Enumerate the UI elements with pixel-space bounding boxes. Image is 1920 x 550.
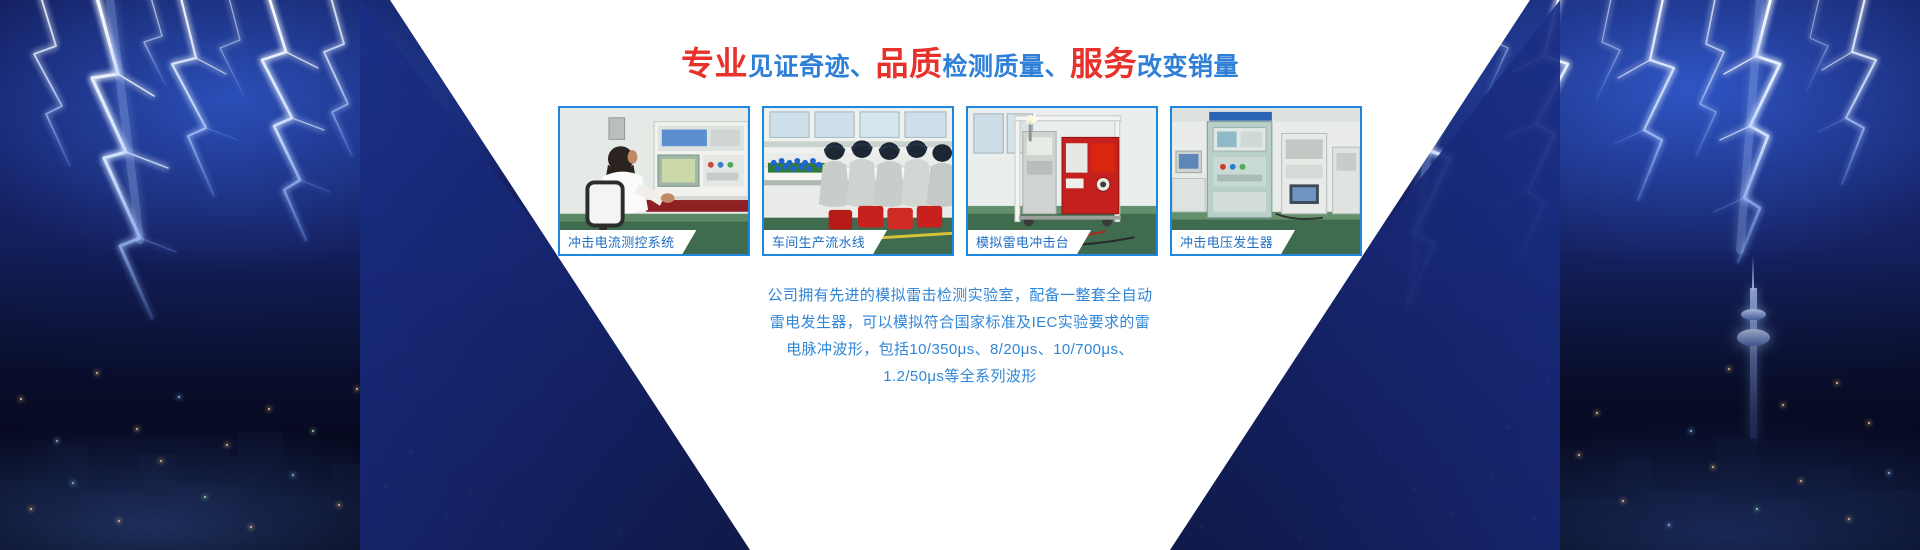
description-line-3: 电脉冲波形，包括10/350μs、8/20μs、10/700μs、 [767,336,1152,363]
promo-banner: 专业见证奇迹、品质检测质量、服务改变销量 [0,0,1920,550]
photo-2-caption: 车间生产流水线 [764,230,887,254]
headline-segment-3: 品质 [875,45,942,82]
headline-segment-5: 服务 [1070,45,1137,82]
banner-headline: 专业见证奇迹、品质检测质量、服务改变销量 [681,47,1239,80]
banner-content: 专业见证奇迹、品质检测质量、服务改变销量 [0,0,1920,550]
photo-4-caption: 冲击电压发生器 [1172,230,1295,254]
photo-card-3[interactable]: 模拟雷电冲击台 [966,106,1158,256]
photo-3-caption: 模拟雷电冲击台 [968,230,1091,254]
headline-segment-1: 专业 [681,45,748,82]
photo-card-4[interactable]: 冲击电压发生器 [1170,106,1362,256]
photo-thumbnail-strip: 冲击电流测控系统 [558,106,1362,256]
photo-card-2[interactable]: 车间生产流水线 [762,106,954,256]
photo-1-caption: 冲击电流测控系统 [560,230,696,254]
photo-card-1[interactable]: 冲击电流测控系统 [558,106,750,256]
description-line-4: 1.2/50μs等全系列波形 [767,363,1152,390]
headline-segment-2: 见证奇迹、 [748,53,876,81]
headline-segment-4: 检测质量、 [942,53,1070,81]
banner-description: 公司拥有先进的模拟雷击检测实验室，配备一整套全自动 雷电发生器，可以模拟符合国家… [767,282,1152,390]
description-line-2: 雷电发生器，可以模拟符合国家标准及IEC实验要求的雷 [767,309,1152,336]
headline-segment-6: 改变销量 [1137,53,1239,81]
description-line-1: 公司拥有先进的模拟雷击检测实验室，配备一整套全自动 [767,282,1152,309]
